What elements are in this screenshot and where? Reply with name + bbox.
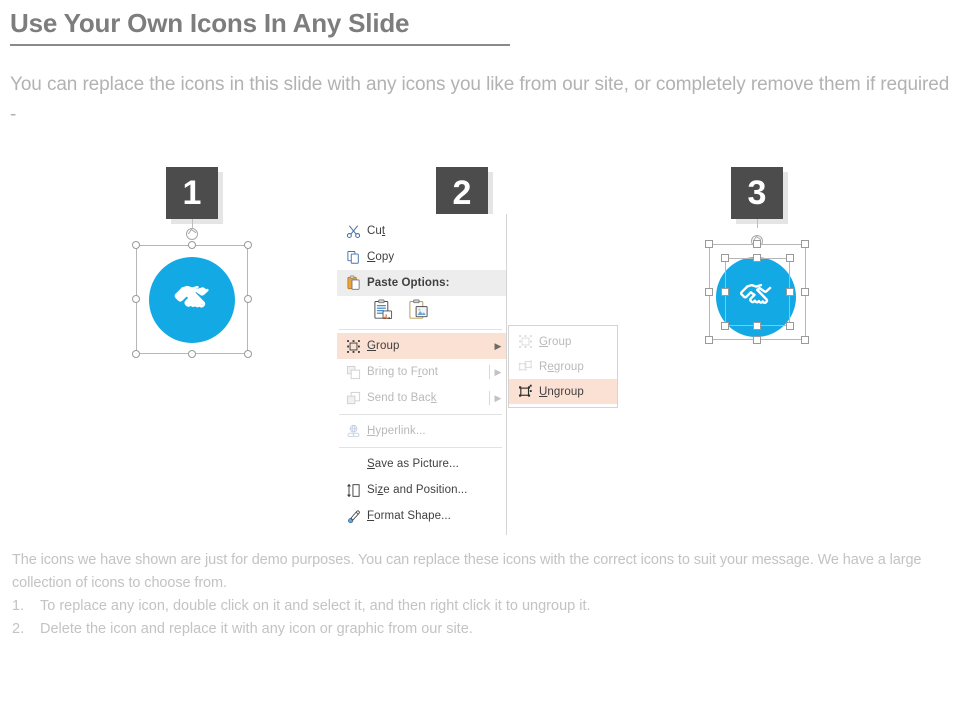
send-to-back-icon [339, 391, 367, 406]
size-position-icon [339, 483, 367, 498]
menu-separator [339, 447, 502, 448]
selection-handle-sw[interactable] [132, 350, 140, 358]
menu-item-cut[interactable]: Cut [337, 218, 506, 244]
selection-handle-ne[interactable] [244, 241, 252, 249]
list-item-number: 1. [12, 595, 40, 618]
list-item-text: To replace any icon, double click on it … [40, 595, 591, 618]
ungroup-icon [511, 384, 539, 399]
menu-item-paste-options: Paste Options: [337, 270, 506, 296]
menu-item-label: Hyperlink... [367, 425, 506, 437]
selection-handle-e[interactable] [244, 295, 252, 303]
selection-handle-inner-se[interactable] [786, 322, 794, 330]
submenu-item-label: Ungroup [539, 386, 617, 398]
menu-separator [339, 414, 502, 415]
submenu-arrow-icon: ▶ [490, 367, 506, 378]
badge-stem-3 [757, 219, 758, 228]
selection-handle-inner-sw[interactable] [721, 322, 729, 330]
step-badge-1: 1 [166, 167, 218, 219]
selection-handle-s[interactable] [188, 350, 196, 358]
page-subtitle: You can replace the icons in this slide … [10, 70, 954, 130]
selection-handle-outer-w[interactable] [705, 288, 713, 296]
menu-item-label: Paste Options: [367, 277, 506, 289]
hyperlink-icon [339, 424, 367, 439]
menu-arrow-divider [489, 365, 490, 379]
menu-item-label: Save as Picture... [367, 458, 506, 470]
menu-item-send-to-back: Send to Back ▶ [337, 385, 506, 411]
selection-handle-inner-s[interactable] [753, 322, 761, 330]
title-underline [10, 44, 510, 46]
selection-handle-outer-n[interactable] [753, 240, 761, 248]
list-item-number: 2. [12, 618, 40, 641]
selection-handle-se[interactable] [244, 350, 252, 358]
paste-keep-source-formatting-icon[interactable]: a [373, 299, 394, 324]
selection-handle-w[interactable] [132, 295, 140, 303]
menu-item-format-shape[interactable]: Format Shape... [337, 503, 506, 529]
regroup-icon [511, 359, 539, 374]
menu-item-save-as-picture[interactable]: Save as Picture... [337, 451, 506, 477]
list-item-text: Delete the icon and replace it with any … [40, 618, 473, 641]
menu-item-size-and-position[interactable]: Size and Position... [337, 477, 506, 503]
group-icon [339, 339, 367, 354]
copy-icon [339, 250, 367, 265]
menu-item-label: Format Shape... [367, 510, 506, 522]
menu-item-hyperlink: Hyperlink... [337, 418, 506, 444]
menu-item-label: Copy [367, 251, 506, 263]
group-submenu[interactable]: Group Regroup [508, 325, 618, 408]
list-item: 1. To replace any icon, double click on … [12, 595, 946, 618]
submenu-arrow-icon: ▶ [490, 341, 506, 352]
submenu-item-regroup: Regroup [509, 354, 617, 379]
selection-handle-inner-nw[interactable] [721, 254, 729, 262]
context-menu[interactable]: Cut Copy Paste Options: [337, 214, 507, 535]
menu-item-label: Cut [367, 225, 506, 237]
badge-stem-1 [192, 219, 193, 228]
paste-options-row[interactable]: a [337, 296, 506, 326]
menu-separator [339, 329, 502, 330]
selection-box-3-inner[interactable] [725, 258, 790, 326]
menu-item-label: Size and Position... [367, 484, 506, 496]
selection-handle-inner-w[interactable] [721, 288, 729, 296]
clipboard-icon [339, 275, 367, 291]
selection-handle-nw[interactable] [132, 241, 140, 249]
scissors-icon [339, 224, 367, 239]
bring-to-front-icon [339, 365, 367, 380]
format-shape-icon [339, 509, 367, 524]
step-badge-2: 2 [436, 167, 488, 219]
selection-handle-inner-n[interactable] [753, 254, 761, 262]
menu-arrow-divider [489, 391, 490, 405]
submenu-item-ungroup[interactable]: Ungroup [509, 379, 617, 404]
paste-picture-icon[interactable] [408, 299, 429, 324]
group-icon [511, 334, 539, 349]
footer-paragraph: The icons we have shown are just for dem… [12, 549, 946, 595]
selection-handle-n[interactable] [188, 241, 196, 249]
selection-box-1[interactable] [136, 245, 248, 354]
selection-handle-outer-ne[interactable] [801, 240, 809, 248]
selection-handle-outer-sw[interactable] [705, 336, 713, 344]
submenu-item-label: Regroup [539, 361, 617, 373]
selection-handle-outer-nw[interactable] [705, 240, 713, 248]
selection-handle-outer-s[interactable] [753, 336, 761, 344]
rotation-handle-1[interactable] [186, 228, 198, 240]
menu-item-bring-to-front: Bring to Front ▶ [337, 359, 506, 385]
submenu-item-label: Group [539, 336, 617, 348]
menu-item-group[interactable]: Group ▶ [337, 333, 506, 359]
footer-list: 1. To replace any icon, double click on … [12, 595, 946, 641]
list-item: 2. Delete the icon and replace it with a… [12, 618, 946, 641]
menu-item-label: Send to Back [367, 392, 490, 404]
menu-item-label: Bring to Front [367, 366, 490, 378]
selection-handle-inner-ne[interactable] [786, 254, 794, 262]
menu-item-label: Group [367, 340, 490, 352]
selection-handle-inner-e[interactable] [786, 288, 794, 296]
selection-handle-outer-se[interactable] [801, 336, 809, 344]
menu-item-copy[interactable]: Copy [337, 244, 506, 270]
submenu-arrow-icon: ▶ [490, 393, 506, 404]
step-badge-3: 3 [731, 167, 783, 219]
submenu-item-group: Group [509, 329, 617, 354]
page-title: Use Your Own Icons In Any Slide [10, 8, 409, 39]
selection-handle-outer-e[interactable] [801, 288, 809, 296]
